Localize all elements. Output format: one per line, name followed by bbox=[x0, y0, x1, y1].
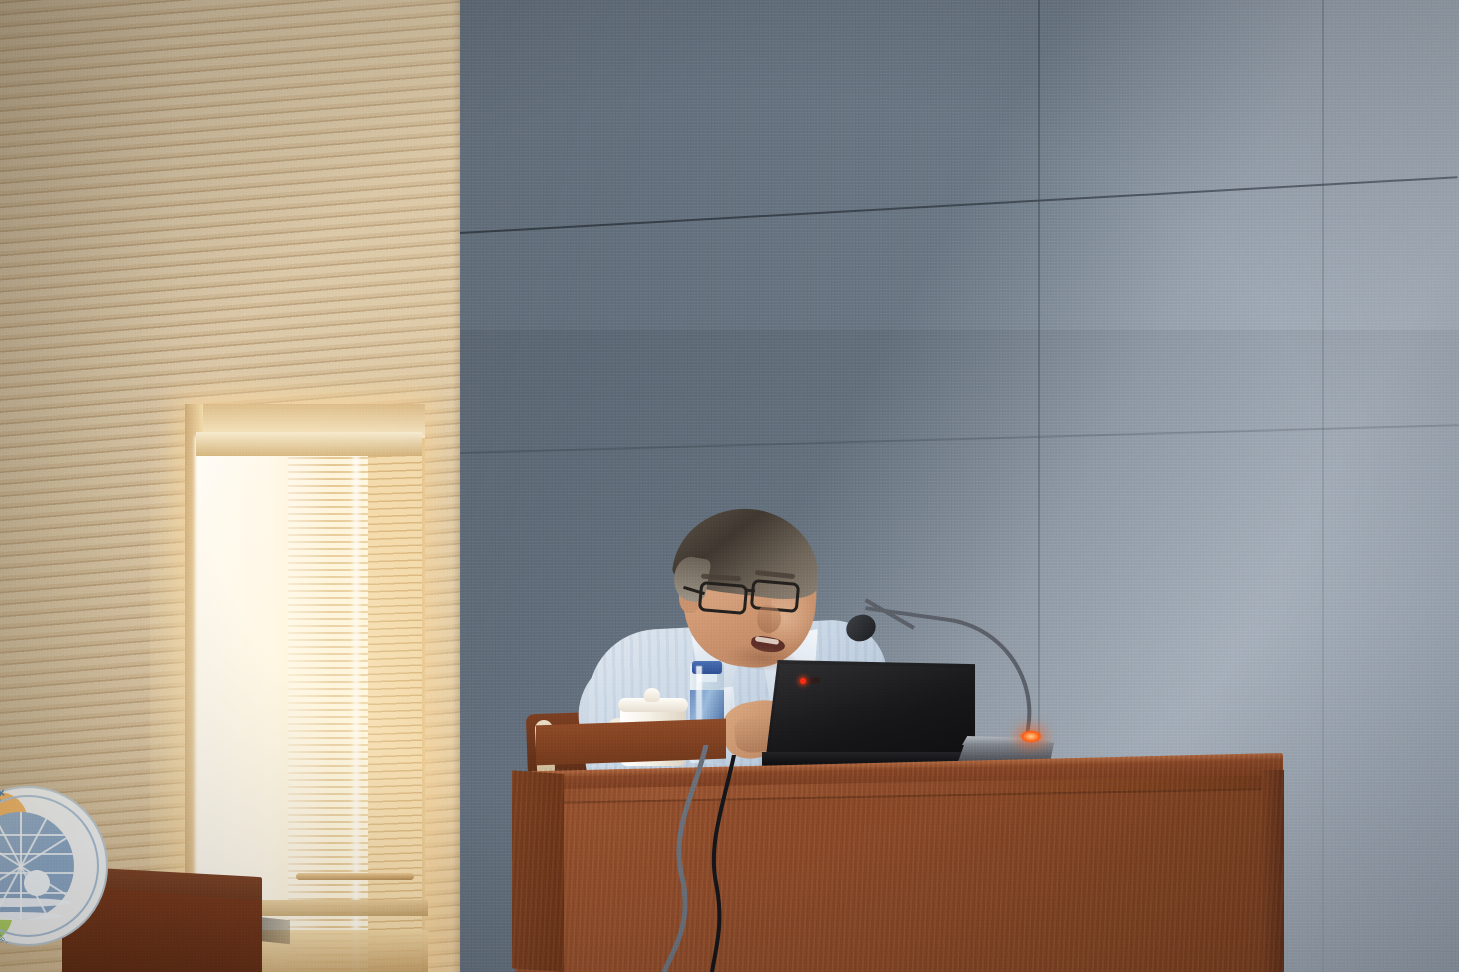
microphone-status-led-icon bbox=[1020, 730, 1042, 743]
emblem-english-text: CROSS-STRAIT RESEARCH INSTITUTE bbox=[0, 786, 108, 946]
institution-emblem-logo: 海峡两岸科研院所 CROSS-STRAIT RESEARCH INSTITUTE… bbox=[0, 786, 108, 946]
blinds-tilt-rod bbox=[296, 873, 414, 880]
photo-scene: 海峡两岸科研院所 CROSS-STRAIT RESEARCH INSTITUTE… bbox=[0, 0, 1459, 972]
laptop-lid-highlight bbox=[768, 664, 970, 760]
mug-lid-knob bbox=[644, 688, 660, 702]
podium-front-panel bbox=[560, 788, 1272, 972]
emblem-en-line: CROSS-STRAIT RESEARCH INSTITUTE bbox=[0, 909, 66, 946]
podium-upper-shelf bbox=[536, 719, 726, 766]
podium-right-edge bbox=[1262, 770, 1284, 972]
window-valance bbox=[196, 432, 422, 456]
window-edge-highlight bbox=[350, 438, 362, 972]
podium-left-bevel bbox=[512, 770, 564, 972]
laptop-power-indicator-icon bbox=[800, 678, 806, 684]
eyeglasses-lens-left bbox=[698, 581, 748, 615]
